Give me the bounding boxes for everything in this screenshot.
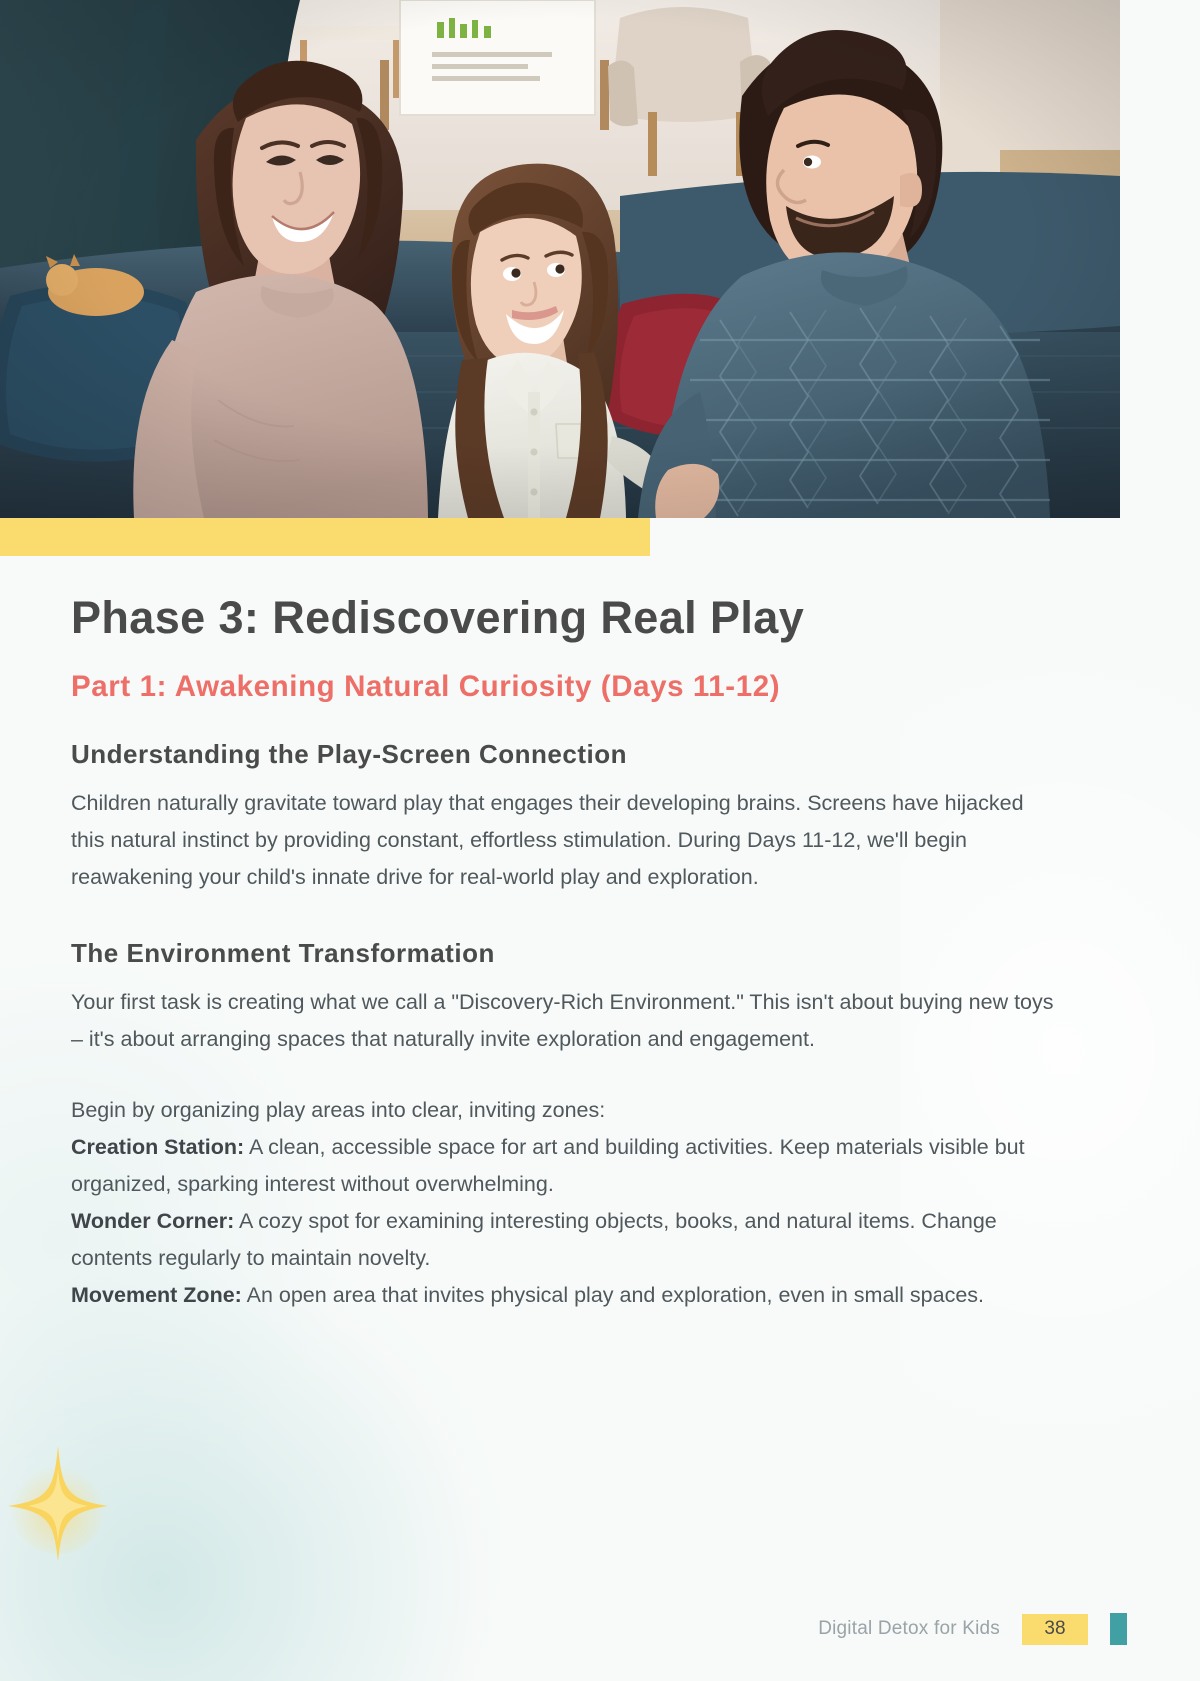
section-paragraph-1: Children naturally gravitate toward play… xyxy=(71,785,1061,896)
hero-image xyxy=(0,0,1120,518)
page-footer: Digital Detox for Kids 38 xyxy=(818,1613,1127,1645)
document-page: Phase 3: Rediscovering Real Play Part 1:… xyxy=(0,0,1200,1681)
zones-intro: Begin by organizing play areas into clea… xyxy=(71,1092,1061,1129)
page-subtitle: Part 1: Awakening Natural Curiosity (Day… xyxy=(71,669,1061,704)
teal-accent-tab xyxy=(1110,1613,1127,1645)
yellow-accent-bar xyxy=(0,518,650,556)
section-paragraph-2: Your first task is creating what we call… xyxy=(71,984,1061,1058)
section-heading-1: Understanding the Play-Screen Connection xyxy=(71,739,1061,770)
zones-list: Begin by organizing play areas into clea… xyxy=(71,1092,1061,1314)
sparkle-icon xyxy=(4,1430,112,1560)
zone-label: Wonder Corner: xyxy=(71,1209,234,1233)
zone-label: Creation Station: xyxy=(71,1135,244,1159)
zone-text: An open area that invites physical play … xyxy=(242,1283,984,1307)
zone-item-movement-zone: Movement Zone: An open area that invites… xyxy=(71,1277,1061,1314)
zone-item-creation-station: Creation Station: A clean, accessible sp… xyxy=(71,1129,1061,1203)
zone-item-wonder-corner: Wonder Corner: A cozy spot for examining… xyxy=(71,1203,1061,1277)
page-content: Phase 3: Rediscovering Real Play Part 1:… xyxy=(71,593,1061,1314)
section-heading-2: The Environment Transformation xyxy=(71,938,1061,969)
page-title: Phase 3: Rediscovering Real Play xyxy=(71,593,1061,643)
zone-label: Movement Zone: xyxy=(71,1283,242,1307)
footer-book-title: Digital Detox for Kids xyxy=(818,1618,1000,1640)
page-number-badge: 38 xyxy=(1022,1614,1088,1645)
